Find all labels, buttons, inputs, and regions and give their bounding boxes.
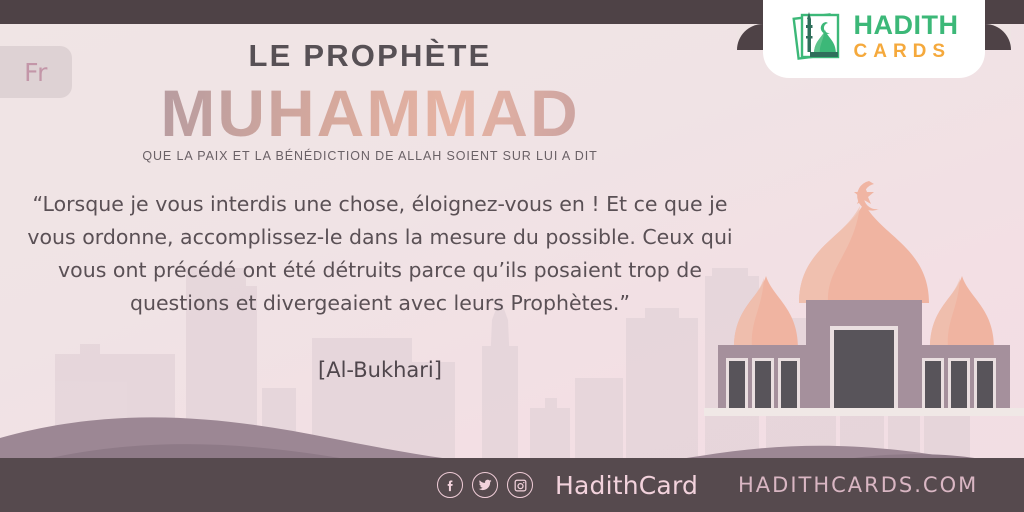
hadith-quote-text: “Lorsque je vous interdis une chose, élo… [10, 188, 750, 320]
mosque-photo-frame-logo-icon [790, 8, 846, 64]
hadith-source: [Al-Bukhari] [10, 358, 750, 382]
page-kicker: LE PROPHÈTE [0, 40, 740, 71]
page-subtitle: QUE LA PAIX ET LA BÉNÉDICTION DE ALLAH S… [0, 149, 740, 163]
card-header: LE PROPHÈTE MUHAMMAD QUE LA PAIX ET LA B… [0, 40, 740, 163]
page-title: MUHAMMAD [0, 79, 740, 148]
brand-logo-panel[interactable]: HADITH CARDS [763, 0, 985, 78]
instagram-icon[interactable] [507, 472, 533, 498]
website-url[interactable]: HADITHCARDS.COM [738, 473, 978, 497]
logo-word-primary: HADITH [854, 12, 959, 39]
top-bar-right-extension [985, 0, 1024, 24]
logo-word-secondary: CARDS [854, 42, 959, 61]
twitter-icon[interactable] [472, 472, 498, 498]
footer-bar: HadithCard HADITHCARDS.COM [0, 458, 1024, 512]
social-links-group: HadithCard [437, 471, 698, 500]
facebook-icon[interactable] [437, 472, 463, 498]
hadith-card: HADITH CARDS Fr LE PROPHÈTE MUHAMMAD QUE… [0, 0, 1024, 512]
mosque-illustration [704, 158, 1024, 458]
social-handle[interactable]: HadithCard [555, 471, 698, 500]
